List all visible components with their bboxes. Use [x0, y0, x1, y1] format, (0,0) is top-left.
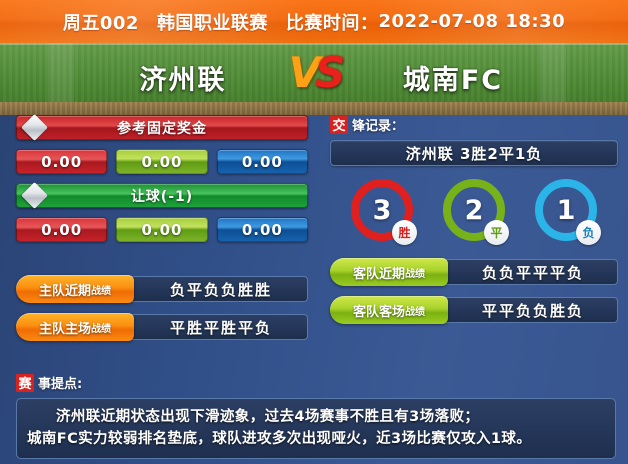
- home-recent-tab-sub: 战绩: [91, 282, 111, 297]
- home-host-tab-main: 主队主场: [39, 318, 91, 337]
- home-host-tab-sub: 战绩: [91, 320, 111, 335]
- home-team-name: 济州联: [68, 57, 298, 97]
- away-recent-record-row: 负负平平平负 客队近期战绩: [330, 259, 618, 285]
- match-preview-card: 周五002 韩国职业联赛 比赛时间： 2022-07-08 18:30 济州联 …: [0, 0, 628, 464]
- odds-column: 参考固定奖金 0.00 0.00 0.00 让球(-1) 0.00 0.00 0…: [16, 115, 308, 340]
- match-time-label: 比赛时间：: [286, 9, 379, 35]
- h2h-ring-win: 3 胜: [351, 179, 413, 241]
- header-content: 周五002 韩国职业联赛 比赛时间： 2022-07-08 18:30: [0, 0, 628, 43]
- tips-plate: 济州联近期状态出现下滑迹象，过去4场赛事不胜且有3场落败； 城南FC实力较弱排名…: [16, 398, 616, 459]
- home-recent-tab-main: 主队近期: [39, 280, 91, 299]
- diamond-icon: [21, 182, 48, 209]
- away-recent-record-tab: 客队近期战绩: [330, 258, 448, 286]
- away-recent-tab-sub: 战绩: [405, 265, 425, 280]
- league-name: 韩国职业联赛: [157, 9, 268, 35]
- handicap-odds-row: 0.00 0.00 0.00: [16, 217, 308, 242]
- tips-label-text: 事提点:: [38, 373, 82, 392]
- tips-section: 赛 事提点: 济州联近期状态出现下滑迹象，过去4场赛事不胜且有3场落败； 城南F…: [16, 373, 616, 459]
- match-number: 周五002: [63, 9, 139, 35]
- home-recent-record-row: 负平负负胜胜 主队近期战绩: [16, 276, 308, 302]
- away-guest-tab-main: 客队客场: [353, 301, 405, 320]
- match-time-value: 2022-07-08 18:30: [378, 11, 565, 32]
- h2h-rings: 3 胜 2 平 1 负: [330, 179, 618, 241]
- h2h-draw-tag: 平: [484, 220, 509, 245]
- fixed-bonus-odds-row: 0.00 0.00 0.00: [16, 149, 308, 174]
- vs-letter-s: S: [315, 48, 343, 97]
- h2h-loss-tag: 负: [576, 220, 601, 245]
- bonus-odd-away[interactable]: 0.00: [217, 149, 308, 174]
- h2h-win-tag: 胜: [392, 220, 417, 245]
- away-guest-record-tab: 客队客场战绩: [330, 296, 448, 324]
- home-host-record-row: 平胜平胜平负 主队主场战绩: [16, 314, 308, 340]
- away-guest-record-row: 平平负负胜负 客队客场战绩: [330, 297, 618, 323]
- head-to-head-label: 交 锋记录：: [330, 115, 618, 134]
- h2h-ring-loss: 1 负: [535, 179, 597, 241]
- tips-line-2: 城南FC实力较弱排名垫底，球队进攻多次出现哑火，近3场比赛仅攻入1球。: [27, 428, 605, 450]
- away-team-name: 城南FC: [338, 57, 568, 97]
- header-bar: 周五002 韩国职业联赛 比赛时间： 2022-07-08 18:30: [0, 0, 628, 43]
- h2h-label-text: 锋记录：: [352, 115, 404, 134]
- vs-icon: VS: [286, 44, 346, 102]
- fixed-bonus-bar: 参考固定奖金: [16, 115, 308, 140]
- handicap-bar: 让球(-1): [16, 183, 308, 208]
- handicap-odd-away[interactable]: 0.00: [217, 217, 308, 242]
- handicap-odd-draw[interactable]: 0.00: [116, 217, 207, 242]
- bonus-odd-draw[interactable]: 0.00: [116, 149, 207, 174]
- h2h-summary: 济州联 3胜2平1负: [330, 140, 618, 166]
- away-recent-tab-main: 客队近期: [353, 263, 405, 282]
- pitch-dirt-strip: [0, 102, 628, 115]
- bonus-odd-home[interactable]: 0.00: [16, 149, 107, 174]
- diamond-icon: [21, 114, 48, 141]
- h2h-badge-icon: 交: [330, 116, 348, 134]
- head-to-head-column: 交 锋记录： 济州联 3胜2平1负 3 胜 2 平 1 负: [330, 115, 618, 323]
- handicap-odd-home[interactable]: 0.00: [16, 217, 107, 242]
- tips-label: 赛 事提点:: [16, 373, 616, 392]
- home-host-record-tab: 主队主场战绩: [16, 313, 134, 341]
- body-area: 参考固定奖金 0.00 0.00 0.00 让球(-1) 0.00 0.00 0…: [0, 115, 628, 464]
- tips-badge-icon: 赛: [16, 374, 34, 392]
- home-recent-record-tab: 主队近期战绩: [16, 275, 134, 303]
- away-guest-tab-sub: 战绩: [405, 303, 425, 318]
- tips-line-1: 济州联近期状态出现下滑迹象，过去4场赛事不胜且有3场落败；: [27, 406, 605, 428]
- h2h-ring-draw: 2 平: [443, 179, 505, 241]
- fixed-bonus-title: 参考固定奖金: [117, 118, 207, 138]
- handicap-title: 让球(-1): [131, 186, 193, 206]
